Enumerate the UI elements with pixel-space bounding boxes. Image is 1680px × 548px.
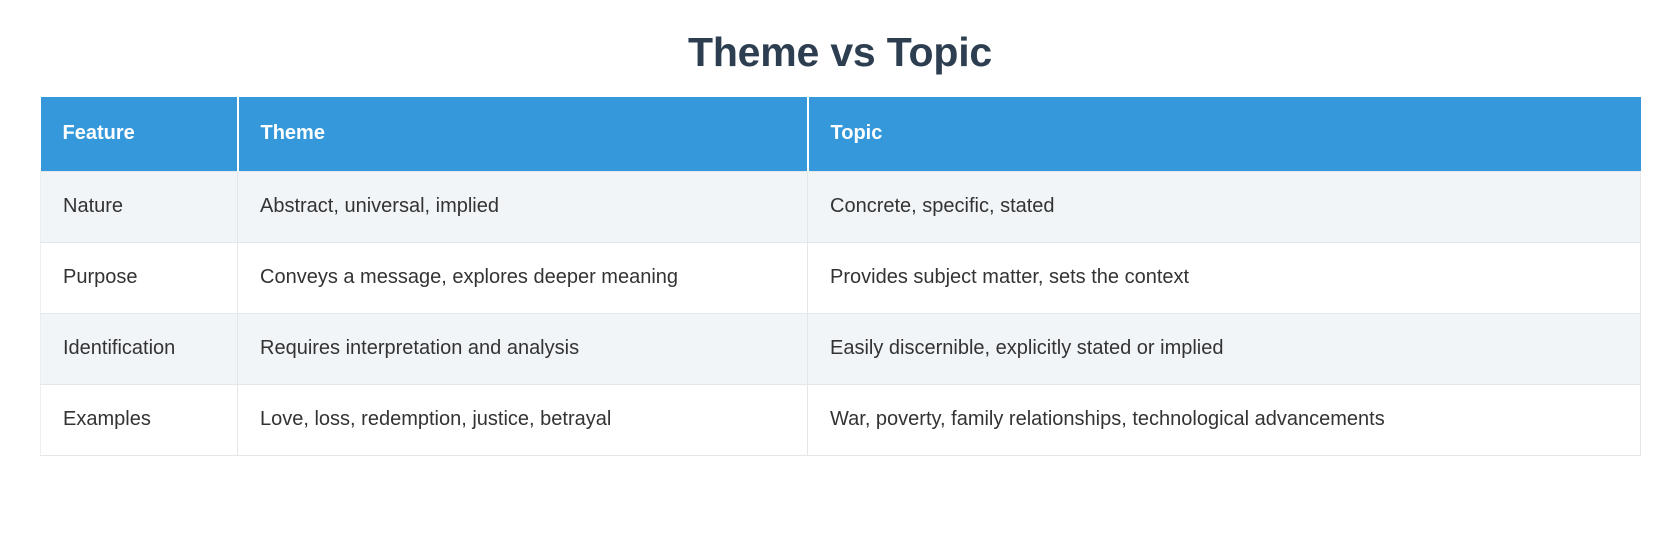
cell-topic: Easily discernible, explicitly stated or… [808, 314, 1641, 385]
cell-feature: Nature [41, 172, 238, 243]
table-row: Purpose Conveys a message, explores deep… [41, 243, 1641, 314]
table-header: Feature Theme Topic [41, 97, 1641, 172]
column-header-topic[interactable]: Topic [808, 97, 1641, 172]
table-row: Examples Love, loss, redemption, justice… [41, 385, 1641, 456]
cell-topic: War, poverty, family relationships, tech… [808, 385, 1641, 456]
cell-theme: Abstract, universal, implied [238, 172, 808, 243]
cell-theme: Love, loss, redemption, justice, betraya… [238, 385, 808, 456]
table-header-row: Feature Theme Topic [41, 97, 1641, 172]
cell-topic: Provides subject matter, sets the contex… [808, 243, 1641, 314]
cell-theme: Conveys a message, explores deeper meani… [238, 243, 808, 314]
page-title: Theme vs Topic [0, 0, 1680, 76]
comparison-table-page: Theme vs Topic Feature Theme Topic Natur… [0, 0, 1680, 548]
column-header-theme[interactable]: Theme [238, 97, 808, 172]
cell-feature: Examples [41, 385, 238, 456]
column-header-feature[interactable]: Feature [41, 97, 238, 172]
cell-topic: Concrete, specific, stated [808, 172, 1641, 243]
table-row: Identification Requires interpretation a… [41, 314, 1641, 385]
table-row: Nature Abstract, universal, implied Conc… [41, 172, 1641, 243]
table-container: Feature Theme Topic Nature Abstract, uni… [40, 76, 1640, 456]
cell-theme: Requires interpretation and analysis [238, 314, 808, 385]
cell-feature: Identification [41, 314, 238, 385]
table-body: Nature Abstract, universal, implied Conc… [41, 172, 1641, 456]
cell-feature: Purpose [41, 243, 238, 314]
theme-vs-topic-table: Feature Theme Topic Nature Abstract, uni… [40, 97, 1641, 456]
